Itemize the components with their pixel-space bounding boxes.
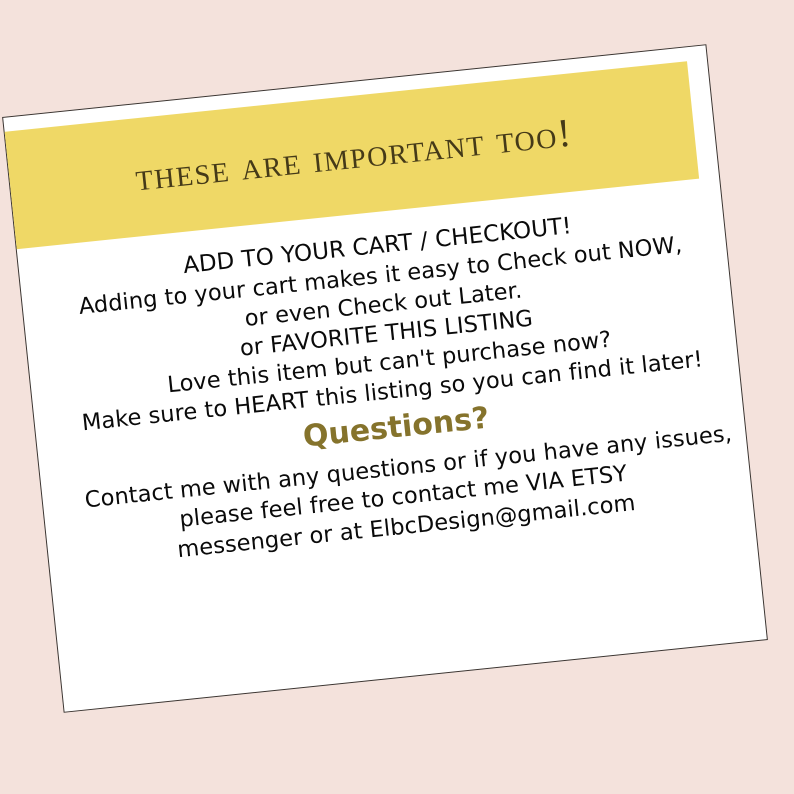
- info-card: These are important too! ADD TO YOUR CAR…: [2, 44, 768, 713]
- canvas: These are important too! ADD TO YOUR CAR…: [0, 0, 794, 794]
- card-container: These are important too! ADD TO YOUR CAR…: [2, 44, 768, 713]
- card-body: ADD TO YOUR CART / CHECKOUT! Adding to y…: [61, 200, 724, 575]
- card-title: These are important too!: [5, 100, 695, 211]
